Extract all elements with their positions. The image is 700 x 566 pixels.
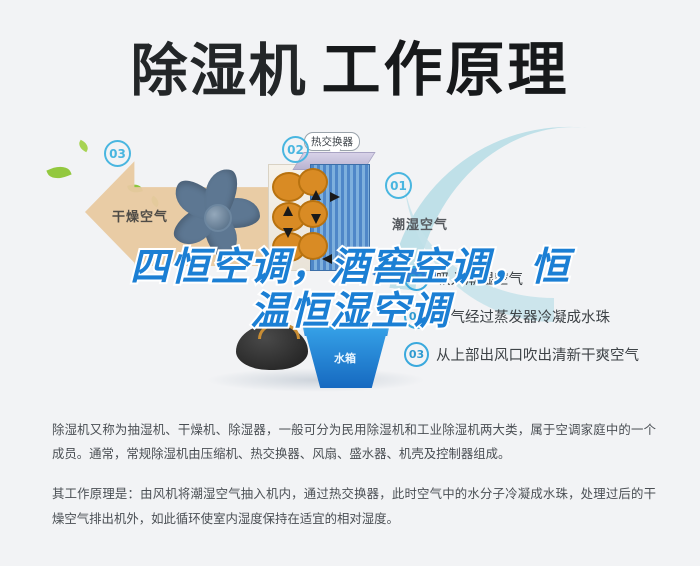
diagram-badge-01: 01 — [385, 172, 412, 199]
diagram-badge-02: 02 — [282, 136, 309, 163]
fan-icon — [160, 158, 280, 268]
page-title: 除湿机工作原理 — [0, 22, 700, 107]
compressor-pipe-icon — [258, 324, 300, 339]
infographic-page: 除湿机工作原理 干燥空气 03 热交换器 — [0, 0, 700, 566]
step-text-01: 吸入潮湿空气 — [436, 268, 523, 289]
heat-exchanger-icon: 热交换器 — [268, 146, 380, 274]
list-item: 02 空气经过蒸发器冷凝成水珠 — [404, 304, 694, 329]
list-item: 03 从上部出风口吹出清新干爽空气 — [404, 342, 694, 367]
title-part-one: 除湿机 — [130, 38, 307, 104]
step-text-02: 空气经过蒸发器冷凝成水珠 — [436, 306, 610, 327]
step-badge-01: 01 — [404, 266, 429, 291]
step-text-03: 从上部出风口吹出清新干爽空气 — [436, 344, 639, 365]
water-tank-label: 水箱 — [334, 350, 356, 366]
leaf-icon — [46, 162, 71, 182]
diagram-badge-03: 03 — [104, 140, 131, 167]
description-paragraph-2: 其工作原理是：由风机将潮湿空气抽入机内，通过热交换器，此时空气中的水分子冷凝成水… — [52, 482, 656, 530]
diagram-illustration: 干燥空气 03 热交换器 — [0, 118, 700, 408]
step-badge-03: 03 — [404, 342, 429, 367]
step-badge-02: 02 — [404, 304, 429, 329]
list-item: 01 吸入潮湿空气 — [404, 266, 694, 291]
fan-hub — [204, 204, 232, 232]
step-list: 01 吸入潮湿空气 02 空气经过蒸发器冷凝成水珠 03 从上部出风口吹出清新干… — [404, 266, 694, 380]
title-part-two: 工作原理 — [321, 35, 569, 104]
coil-flow-arrows-icon — [268, 146, 380, 274]
humid-air-label: 潮湿空气 — [392, 214, 448, 233]
leaf-icon — [77, 140, 91, 152]
description-paragraph-1: 除湿机又称为抽湿机、干燥机、除湿器，一般可分为民用除湿机和工业除湿机两大类，属于… — [52, 418, 656, 466]
description-block: 除湿机又称为抽湿机、干燥机、除湿器，一般可分为民用除湿机和工业除湿机两大类，属于… — [52, 418, 656, 541]
